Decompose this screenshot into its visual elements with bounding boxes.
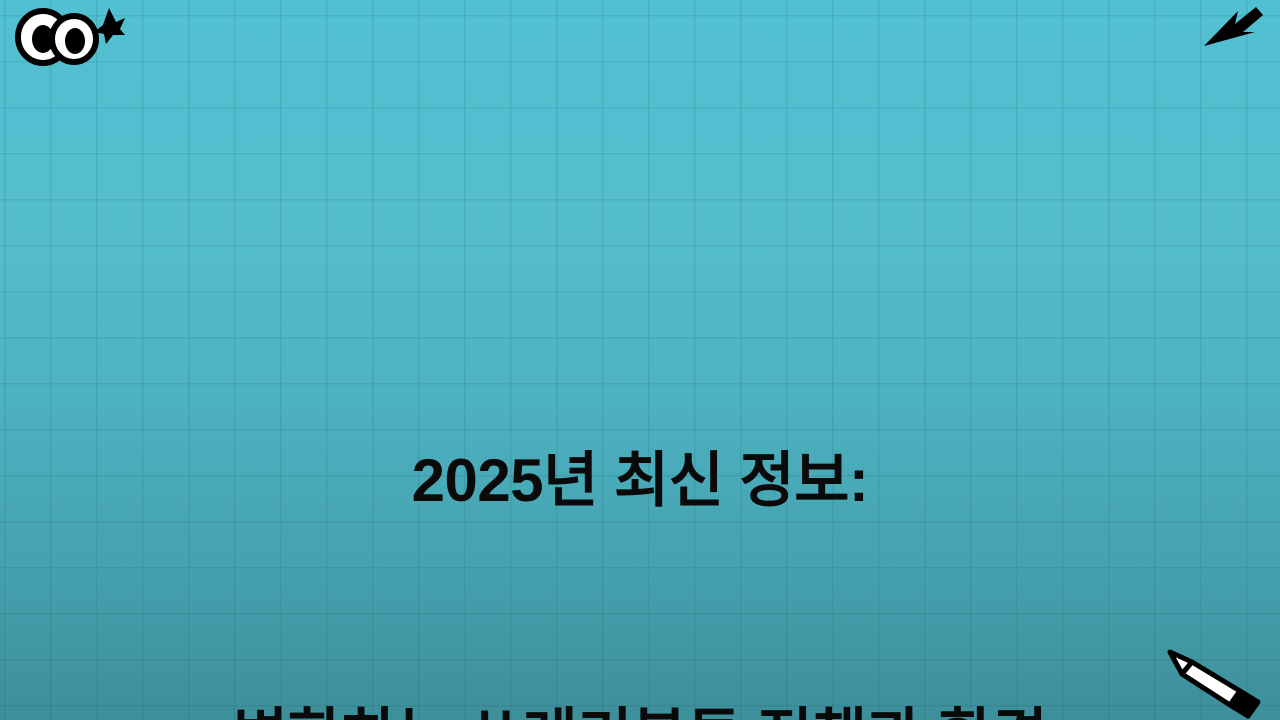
title-line-1: 2025년 최신 정보: [0, 438, 1280, 523]
arrow-icon [1202, 2, 1264, 54]
page-title: 2025년 최신 정보: 변화하는 쓰레기봉투 정책과 환경 [0, 268, 1280, 720]
googly-eyes-icon [6, 2, 126, 72]
eyes-group [18, 11, 96, 63]
slide-canvas: 2025년 최신 정보: 변화하는 쓰레기봉투 정책과 환경 [0, 0, 1280, 720]
title-line-2: 변화하는 쓰레기봉투 정책과 환경 [0, 694, 1280, 720]
